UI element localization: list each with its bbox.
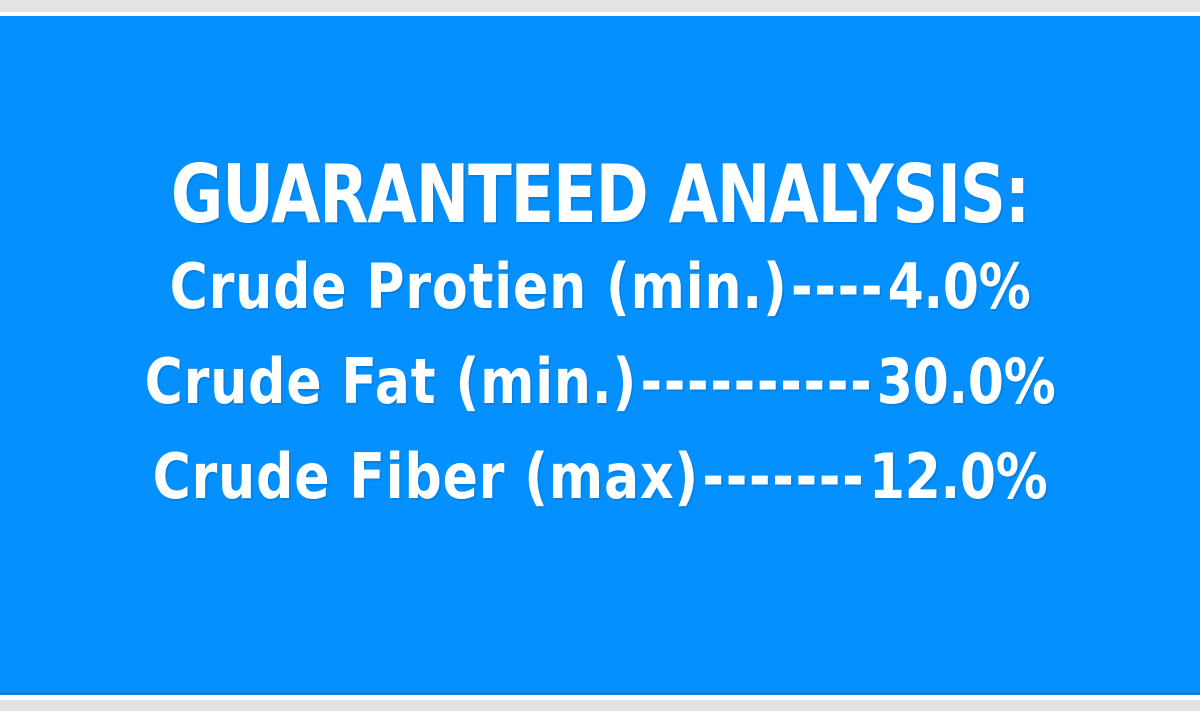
analysis-row-fat: Crude Fat (min.)----------30.0% bbox=[96, 351, 1104, 413]
row-label-fiber: Crude Fiber (max) bbox=[153, 440, 699, 513]
panel-content: GUARANTEED ANALYSIS: Crude Protien (min.… bbox=[0, 16, 1200, 508]
row-value-fat: 30.0% bbox=[877, 345, 1056, 418]
page-title: GUARANTEED ANALYSIS: bbox=[120, 156, 1080, 234]
row-leader-protein: ---- bbox=[788, 250, 888, 323]
analysis-row-protein: Crude Protien (min.)----4.0% bbox=[96, 256, 1104, 318]
analysis-rows: Crude Protien (min.)----4.0% Crude Fat (… bbox=[0, 256, 1200, 508]
row-label-fat: Crude Fat (min.) bbox=[145, 345, 637, 418]
bottom-chrome-band bbox=[0, 700, 1200, 711]
row-leader-fiber: ------- bbox=[699, 440, 869, 513]
top-chrome-band bbox=[0, 0, 1200, 12]
row-value-fiber: 12.0% bbox=[869, 440, 1048, 513]
row-value-protein: 4.0% bbox=[888, 250, 1031, 323]
row-leader-fat: ---------- bbox=[637, 345, 877, 418]
row-label-protein: Crude Protien (min.) bbox=[170, 250, 788, 323]
analysis-row-fiber: Crude Fiber (max)-------12.0% bbox=[96, 446, 1104, 508]
guaranteed-analysis-screen: GUARANTEED ANALYSIS: Crude Protien (min.… bbox=[0, 0, 1200, 711]
guaranteed-analysis-panel: GUARANTEED ANALYSIS: Crude Protien (min.… bbox=[0, 16, 1200, 695]
